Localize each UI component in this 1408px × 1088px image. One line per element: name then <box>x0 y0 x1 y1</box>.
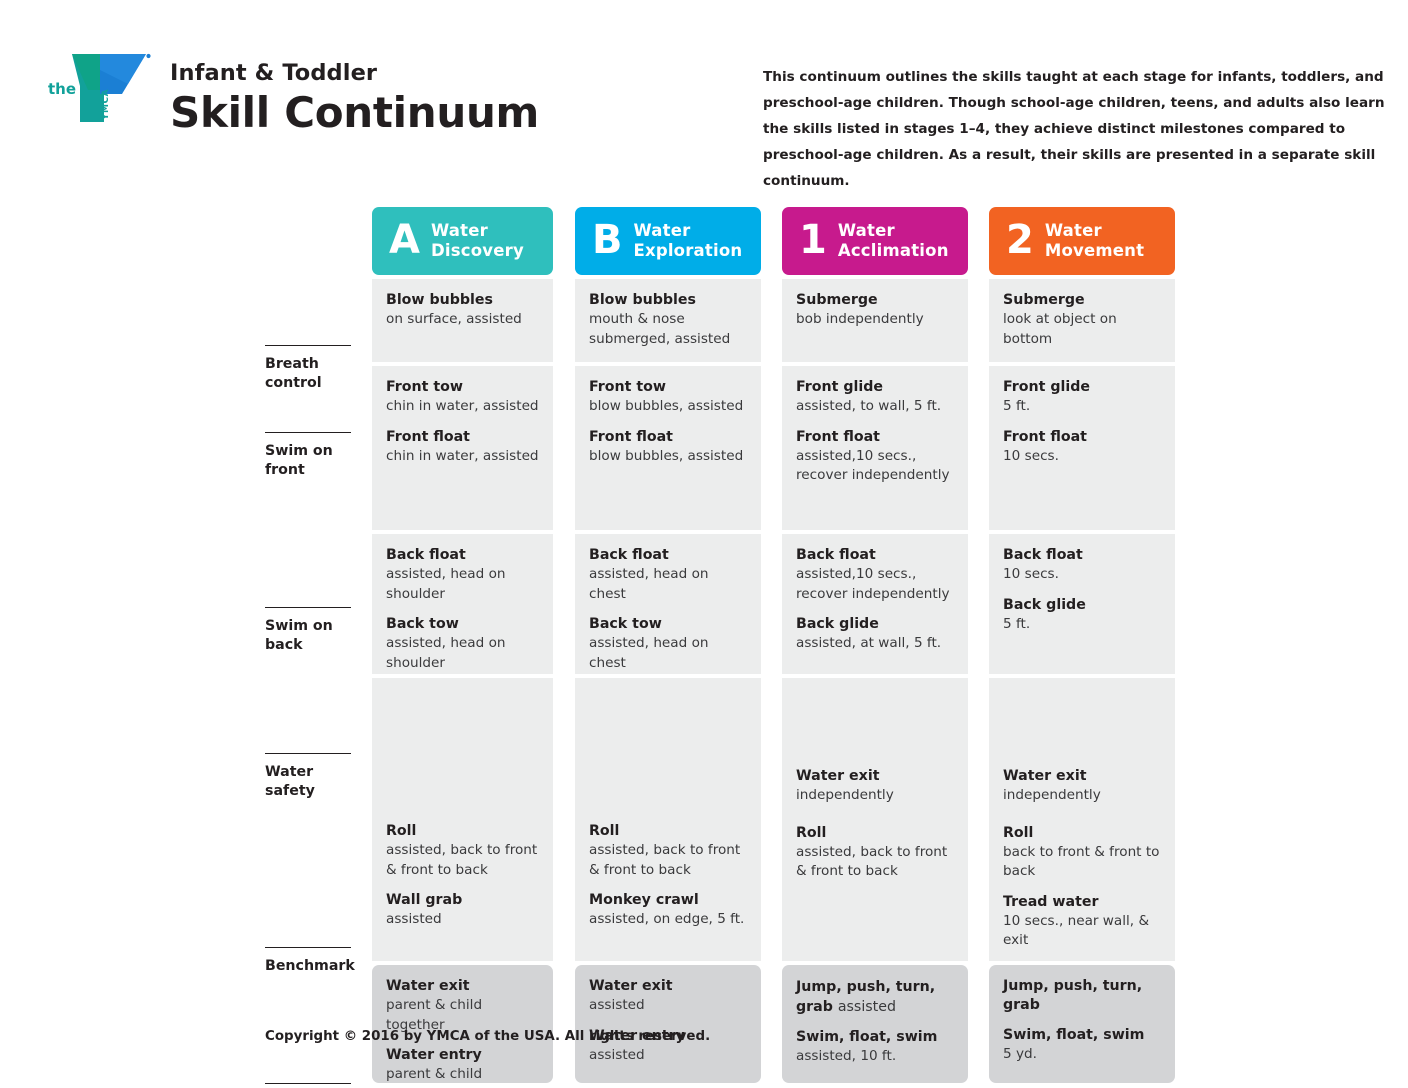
skill-desc: blow bubbles, assisted <box>589 397 747 417</box>
stage-badge-1: 1 <box>799 220 827 260</box>
skill-desc: assisted, head on shoulder <box>386 565 539 604</box>
skill-desc: bob independently <box>796 310 954 330</box>
skill-name: Blow bubbles <box>589 291 747 310</box>
skill-item: Front glide assisted, to wall, 5 ft. <box>796 378 954 417</box>
stage-header-b[interactable]: B Water Exploration <box>575 207 761 275</box>
skill-desc: assisted, to wall, 5 ft. <box>796 397 954 417</box>
intro-paragraph: This continuum outlines the skills taugh… <box>763 64 1388 194</box>
skill-item: Front tow chin in water, assisted <box>386 378 539 417</box>
skill-item: Roll assisted, back to front & front to … <box>386 822 539 880</box>
cell-b-water-safety: Roll assisted, back to front & front to … <box>575 678 761 961</box>
skill-item: Water exit independently <box>796 767 954 806</box>
skill-item: Water exit assisted <box>589 977 747 1016</box>
stage-label-1-line1: Water <box>838 221 895 240</box>
stage-label-a-line2: Discovery <box>431 241 524 260</box>
skill-name: Front float <box>589 428 747 447</box>
skill-desc: 10 secs., near wall, & exit <box>1003 912 1161 951</box>
row-label-text: Water safety <box>265 764 315 799</box>
skill-desc: independently <box>1003 786 1161 806</box>
skill-name: Back glide <box>796 615 954 634</box>
cell-2-swim-on-front: Front glide 5 ft. Front float 10 secs. <box>989 366 1175 530</box>
cell-2-benchmark: Jump, push, turn, grab Swim, float, swim… <box>989 965 1175 1083</box>
skill-desc: assisted,10 secs., recover independently <box>796 565 954 604</box>
skill-name: Front glide <box>796 378 954 397</box>
cell-b-breath-control: Blow bubbles mouth & nose submerged, ass… <box>575 279 761 362</box>
row-label-water-safety: Water safety <box>265 753 351 801</box>
skill-continuum-page: the YMCA Infant & Toddler Skill Continuu… <box>0 0 1408 1088</box>
skill-name: Roll <box>796 824 954 843</box>
skill-item: Blow bubbles on surface, assisted <box>386 291 539 330</box>
skill-item: Submerge look at object on bottom <box>1003 291 1161 349</box>
skill-name: Blow bubbles <box>386 291 539 310</box>
title-block: Infant & Toddler Skill Continuum <box>170 60 539 136</box>
skill-name: Back float <box>589 546 747 565</box>
cell-1-swim-on-back: Back float assisted,10 secs., recover in… <box>782 534 968 674</box>
skill-name-inline: Jump, push, turn, grab assisted <box>796 977 954 1017</box>
skill-name: Back tow <box>386 615 539 634</box>
skill-item: Jump, push, turn, grab assisted <box>796 977 954 1017</box>
skill-desc: assisted,10 secs., recover independently <box>796 447 954 486</box>
row-label-swim-on-back: Swim on back <box>265 607 351 655</box>
row-label-bottom-rule <box>265 1083 351 1084</box>
cell-a-swim-on-back: Back float assisted, head on shoulder Ba… <box>372 534 553 674</box>
skill-desc: assisted <box>589 1046 747 1066</box>
skill-desc: back to front & front to back <box>1003 843 1161 882</box>
skill-name: Water exit <box>386 977 539 996</box>
skill-name: Wall grab <box>386 891 539 910</box>
stage-label-b: Water Exploration <box>634 221 743 261</box>
title-kicker: Infant & Toddler <box>170 60 539 87</box>
skill-name: Front tow <box>589 378 747 397</box>
copyright-notice: Copyright © 2016 by YMCA of the USA. All… <box>265 1029 710 1044</box>
skill-name: Front float <box>386 428 539 447</box>
skill-desc: assisted, back to front & front to back <box>589 841 747 880</box>
skill-item: Front float chin in water, assisted <box>386 428 539 467</box>
skill-item: Swim, float, swim 5 yd. <box>1003 1026 1161 1065</box>
cell-a-swim-on-front: Front tow chin in water, assisted Front … <box>372 366 553 530</box>
skill-desc: assisted <box>589 996 747 1016</box>
row-label-text: Breath control <box>265 356 322 391</box>
stage-label-1-line2: Acclimation <box>838 241 949 260</box>
page-header: the YMCA Infant & Toddler Skill Continuu… <box>0 0 1408 185</box>
skill-item: Roll back to front & front to back <box>1003 824 1161 882</box>
cell-1-benchmark: Jump, push, turn, grab assisted Swim, fl… <box>782 965 968 1083</box>
stage-badge-a: A <box>389 220 420 260</box>
skill-desc: parent & child together <box>386 1065 539 1088</box>
skill-name: Tread water <box>1003 893 1161 912</box>
ymca-logo: the YMCA <box>42 50 154 126</box>
skill-name: Back float <box>386 546 539 565</box>
skill-name: Submerge <box>1003 291 1161 310</box>
cell-a-benchmark: Water exit parent & child together Water… <box>372 965 553 1083</box>
skill-name: Monkey crawl <box>589 891 747 910</box>
stage-header-1[interactable]: 1 Water Acclimation <box>782 207 968 275</box>
skill-item: Submerge bob independently <box>796 291 954 330</box>
cell-2-breath-control: Submerge look at object on bottom <box>989 279 1175 362</box>
stage-label-2-line1: Water <box>1045 221 1102 240</box>
row-label-text: Swim on front <box>265 443 333 478</box>
skill-item: Front float 10 secs. <box>1003 428 1161 467</box>
skill-item: Back tow assisted, head on shoulder <box>386 615 539 673</box>
skill-item: Roll assisted, back to front & front to … <box>589 822 747 880</box>
skill-desc: chin in water, assisted <box>386 397 539 417</box>
page-title: Skill Continuum <box>170 89 539 136</box>
skill-desc: assisted, back to front & front to back <box>796 843 954 882</box>
skill-name: Jump, push, turn, grab <box>1003 977 1161 1015</box>
stage-label-a-line1: Water <box>431 221 488 240</box>
skill-desc: assisted, back to front & front to back <box>386 841 539 880</box>
stage-header-a[interactable]: A Water Discovery <box>372 207 553 275</box>
cell-1-breath-control: Submerge bob independently <box>782 279 968 362</box>
cell-1-water-safety: Water exit independently Roll assisted, … <box>782 678 968 961</box>
skill-item: Back glide 5 ft. <box>1003 596 1161 635</box>
stage-label-2-line2: Movement <box>1045 241 1144 260</box>
stage-header-2[interactable]: 2 Water Movement <box>989 207 1175 275</box>
skill-name: Front tow <box>386 378 539 397</box>
skill-item: Back float 10 secs. <box>1003 546 1161 585</box>
skill-name: Front glide <box>1003 378 1161 397</box>
skill-name: Back float <box>796 546 954 565</box>
skill-name: Water exit <box>1003 767 1161 786</box>
svg-text:YMCA: YMCA <box>101 89 111 121</box>
skill-desc: assisted, head on shoulder <box>386 634 539 673</box>
cell-2-water-safety: Water exit independently Roll back to fr… <box>989 678 1175 961</box>
skill-item: Front tow blow bubbles, assisted <box>589 378 747 417</box>
skill-desc: 5 yd. <box>1003 1045 1161 1065</box>
cell-b-swim-on-back: Back float assisted, head on chest Back … <box>575 534 761 674</box>
skill-desc: independently <box>796 786 954 806</box>
skill-desc: look at object on bottom <box>1003 310 1161 349</box>
cell-1-swim-on-front: Front glide assisted, to wall, 5 ft. Fro… <box>782 366 968 530</box>
skill-item: Back glide assisted, at wall, 5 ft. <box>796 615 954 654</box>
skill-name: Swim, float, swim <box>796 1028 954 1047</box>
stage-label-b-line2: Exploration <box>634 241 743 260</box>
row-label-swim-on-front: Swim on front <box>265 432 351 480</box>
skill-item: Water exit independently <box>1003 767 1161 806</box>
skill-item: Tread water 10 secs., near wall, & exit <box>1003 893 1161 951</box>
skill-name: Water exit <box>589 977 747 996</box>
skill-item: Front float assisted,10 secs., recover i… <box>796 428 954 486</box>
skill-item: Roll assisted, back to front & front to … <box>796 824 954 882</box>
skill-name: Submerge <box>796 291 954 310</box>
stage-label-2: Water Movement <box>1045 221 1144 261</box>
skill-desc: blow bubbles, assisted <box>589 447 747 467</box>
row-label-text: Swim on back <box>265 618 333 653</box>
stage-label-a: Water Discovery <box>431 221 524 261</box>
skill-desc: 10 secs. <box>1003 447 1161 467</box>
cell-b-benchmark: Water exit assisted Water entry assisted <box>575 965 761 1083</box>
skill-name: Front float <box>796 428 954 447</box>
skill-item: Front float blow bubbles, assisted <box>589 428 747 467</box>
skill-name: Roll <box>589 822 747 841</box>
skill-item: Water exit parent & child together <box>386 977 539 1035</box>
skill-name: Water exit <box>796 767 954 786</box>
skill-desc: assisted, at wall, 5 ft. <box>796 634 954 654</box>
cell-a-water-safety: Roll assisted, back to front & front to … <box>372 678 553 961</box>
skill-item: Swim, float, swim assisted, 10 ft. <box>796 1028 954 1067</box>
skill-name: Water entry <box>386 1046 539 1065</box>
skill-name: Back float <box>1003 546 1161 565</box>
stage-badge-2: 2 <box>1006 220 1034 260</box>
skill-desc: mouth & nose submerged, assisted <box>589 310 747 349</box>
stage-header-row: A Water Discovery B Water Exploration 1 … <box>265 200 1385 275</box>
skill-desc: assisted, 10 ft. <box>796 1047 954 1067</box>
skill-item: Blow bubbles mouth & nose submerged, ass… <box>589 291 747 349</box>
cell-2-swim-on-back: Back float 10 secs. Back glide 5 ft. <box>989 534 1175 674</box>
skill-name: Front float <box>1003 428 1161 447</box>
skill-name: Back glide <box>1003 596 1161 615</box>
skill-desc: 10 secs. <box>1003 565 1161 585</box>
skill-name: Roll <box>386 822 539 841</box>
cell-b-swim-on-front: Front tow blow bubbles, assisted Front f… <box>575 366 761 530</box>
stage-label-1: Water Acclimation <box>838 221 949 261</box>
row-label-benchmark: Benchmark <box>265 947 351 976</box>
skill-desc: assisted, head on chest <box>589 634 747 673</box>
stage-badge-b: B <box>592 220 623 260</box>
skill-desc: assisted, head on chest <box>589 565 747 604</box>
svg-text:the: the <box>48 80 76 98</box>
skill-name: Roll <box>1003 824 1161 843</box>
row-label-text: Benchmark <box>265 958 355 974</box>
skill-item: Front glide 5 ft. <box>1003 378 1161 417</box>
skill-desc: chin in water, assisted <box>386 447 539 467</box>
skill-item: Back tow assisted, head on chest <box>589 615 747 673</box>
skill-item: Back float assisted,10 secs., recover in… <box>796 546 954 604</box>
skill-desc: on surface, assisted <box>386 310 539 330</box>
cell-a-breath-control: Blow bubbles on surface, assisted <box>372 279 553 362</box>
skill-desc: assisted <box>386 910 539 930</box>
skill-item: Water entry parent & child together <box>386 1046 539 1088</box>
stage-label-b-line1: Water <box>634 221 691 240</box>
skill-name: Back tow <box>589 615 747 634</box>
skill-item: Wall grab assisted <box>386 891 539 930</box>
skill-item: Jump, push, turn, grab <box>1003 977 1161 1015</box>
skill-item: Back float assisted, head on shoulder <box>386 546 539 604</box>
skill-item: Back float assisted, head on chest <box>589 546 747 604</box>
skill-desc: 5 ft. <box>1003 615 1161 635</box>
skill-item: Monkey crawl assisted, on edge, 5 ft. <box>589 891 747 930</box>
row-label-breath-control: Breath control <box>265 345 351 393</box>
skill-desc: assisted <box>838 999 896 1015</box>
skill-desc: assisted, on edge, 5 ft. <box>589 910 747 930</box>
skill-desc: 5 ft. <box>1003 397 1161 417</box>
skill-name: Swim, float, swim <box>1003 1026 1161 1045</box>
